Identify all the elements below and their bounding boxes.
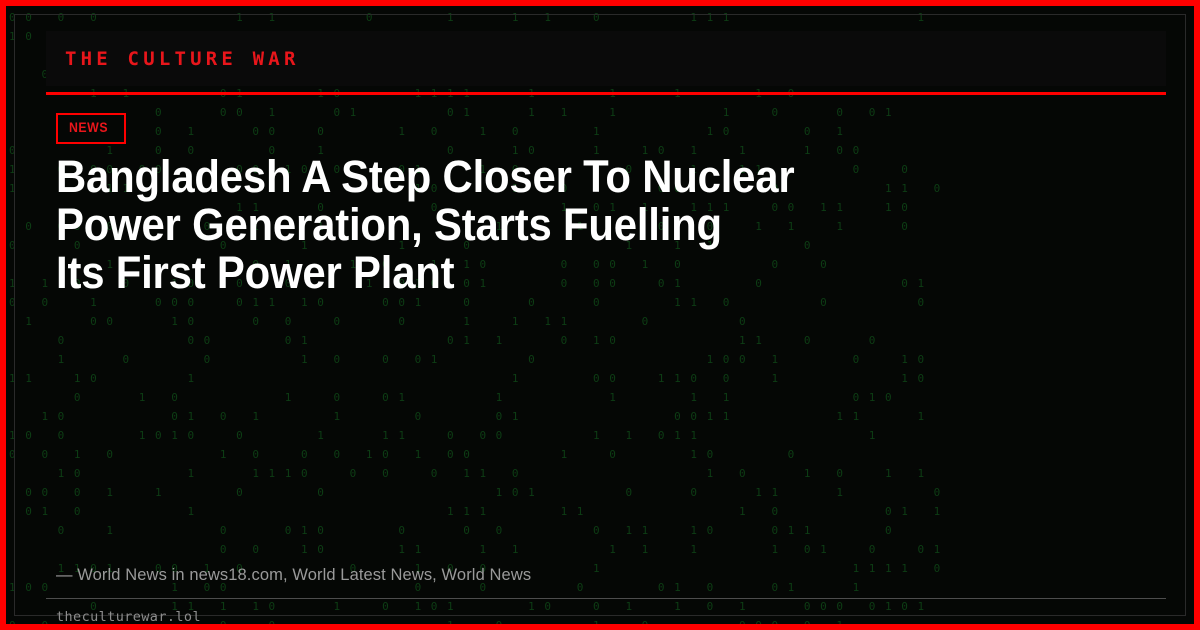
footer-divider-rule	[46, 598, 1166, 599]
site-url: theculturewar.lol	[56, 609, 201, 625]
headline-line-2: Power Generation, Starts Fuelling	[56, 201, 874, 249]
headline-line-3: Its First Power Plant	[56, 249, 874, 297]
category-badge: NEWS	[56, 113, 126, 144]
card-content: THE CULTURE WAR NEWS Bangladesh A Step C…	[14, 14, 1186, 616]
brand-divider-rule	[46, 92, 1166, 95]
social-share-card: 00 0 0 1 1 0 1 1 1 0 111 1 10 0 111 0 1 …	[0, 0, 1200, 630]
brand-header-bar: THE CULTURE WAR	[46, 31, 1166, 86]
headline-line-1: Bangladesh A Step Closer To Nuclear	[56, 153, 874, 201]
category-badge-label: NEWS	[69, 119, 108, 135]
source-attribution: — World News in news18.com, World Latest…	[56, 566, 531, 585]
brand-title: THE CULTURE WAR	[46, 48, 300, 70]
headline: Bangladesh A Step Closer To Nuclear Powe…	[56, 153, 874, 297]
